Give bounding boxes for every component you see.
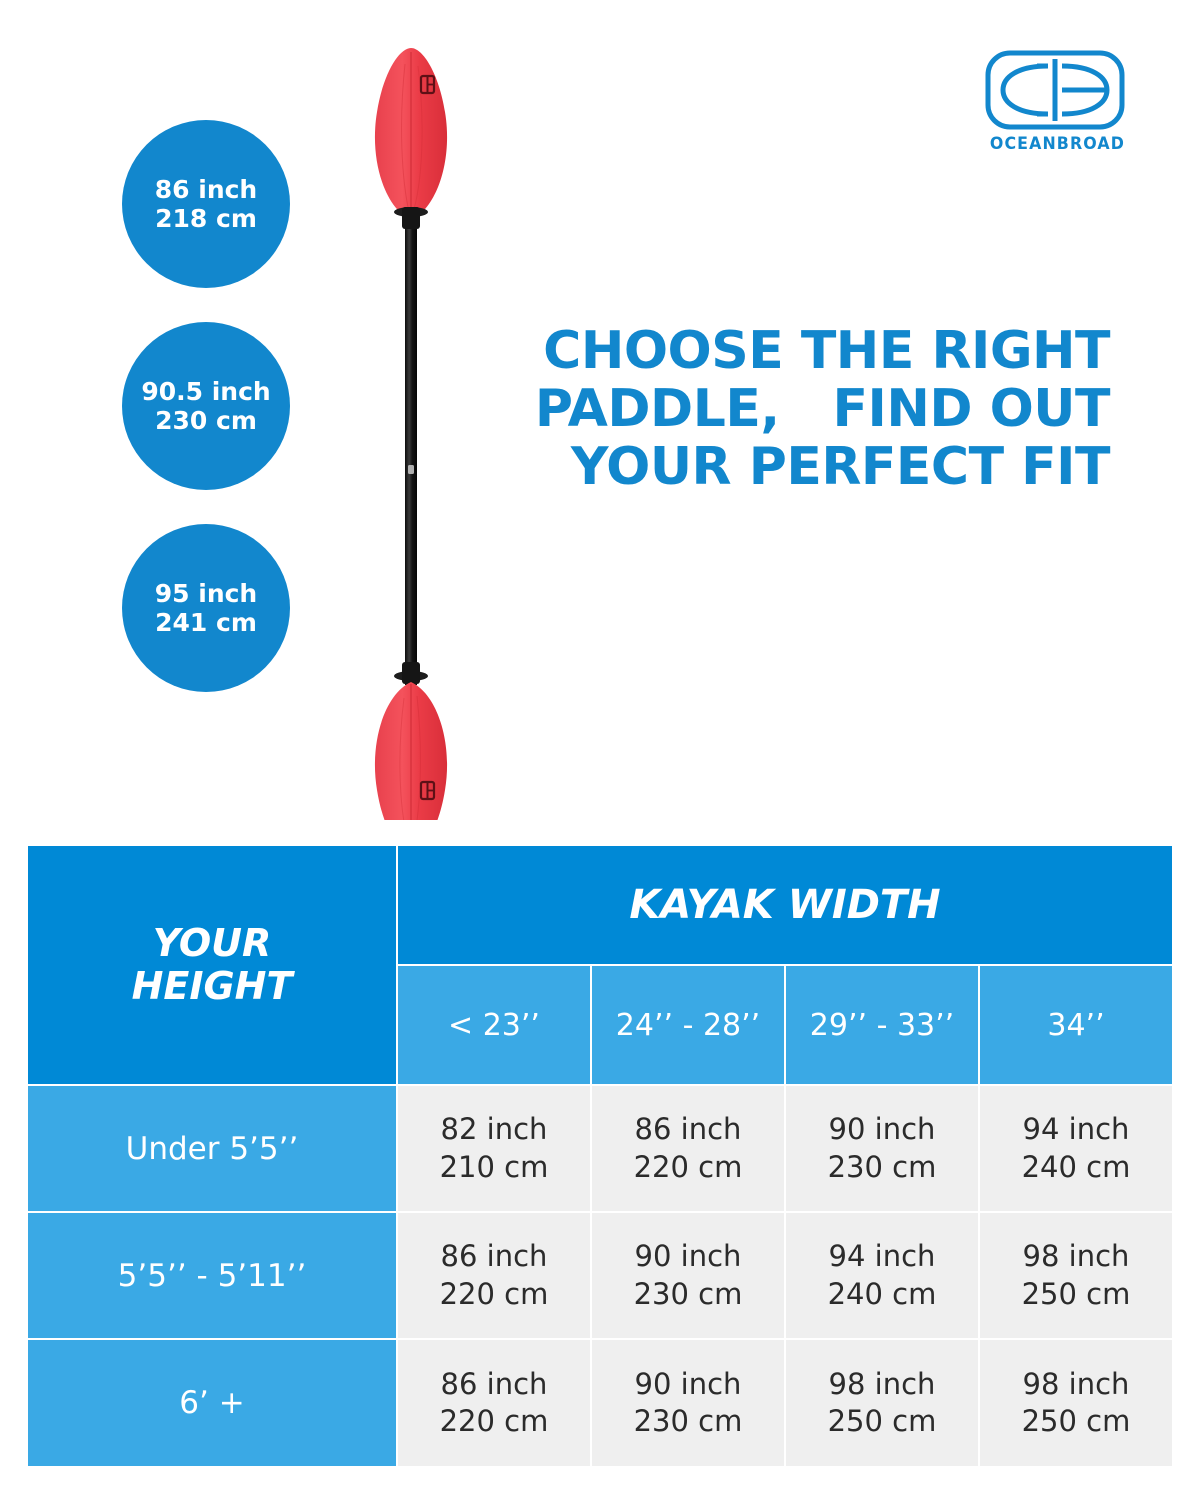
kayak-paddle-illustration — [355, 40, 475, 820]
table-cell-0-1: 86 inch 220 cm — [592, 1086, 786, 1213]
table-row-label-0: Under 5’5’’ — [28, 1086, 398, 1213]
cell-cm: 230 cm — [634, 1276, 743, 1313]
headline-line-3: YOUR PERFECT FIT — [470, 438, 1110, 496]
table-row-label-2: 6’ + — [28, 1340, 398, 1466]
size-circle-86: 86 inch 218 cm — [122, 120, 290, 288]
your-height-line-1: YOUR — [153, 922, 272, 965]
table-cell-2-2: 98 inch 250 cm — [786, 1340, 980, 1466]
cell-inch: 98 inch — [829, 1366, 936, 1403]
column-header-width-2: 29’’ - 33’’ — [786, 966, 980, 1086]
cell-cm: 230 cm — [634, 1403, 743, 1440]
column-header-width-0: < 23’’ — [398, 966, 592, 1086]
page-headline: CHOOSE THE RIGHT PADDLE, FIND OUT YOUR P… — [470, 322, 1110, 497]
size-circle-cm: 241 cm — [155, 608, 257, 638]
table-cell-2-0: 86 inch 220 cm — [398, 1340, 592, 1466]
size-circle-inch: 90.5 inch — [141, 377, 270, 407]
brand-wordmark: OCEANBROAD — [990, 134, 1120, 154]
table-cell-0-2: 90 inch 230 cm — [786, 1086, 980, 1213]
cell-cm: 220 cm — [440, 1403, 549, 1440]
table-cell-0-0: 82 inch 210 cm — [398, 1086, 592, 1213]
size-circle-cm: 218 cm — [155, 204, 257, 234]
table-cell-1-2: 94 inch 240 cm — [786, 1213, 980, 1340]
table-header-your-height: YOUR HEIGHT — [28, 846, 398, 1086]
table-cell-1-0: 86 inch 220 cm — [398, 1213, 592, 1340]
cell-inch: 94 inch — [1023, 1111, 1130, 1148]
table-row-label-1: 5’5’’ - 5’11’’ — [28, 1213, 398, 1340]
size-circle-cm: 230 cm — [155, 406, 257, 436]
column-header-width-1: 24’’ - 28’’ — [592, 966, 786, 1086]
size-circle-inch: 86 inch — [155, 175, 257, 205]
cell-cm: 220 cm — [634, 1149, 743, 1186]
cell-cm: 210 cm — [440, 1149, 549, 1186]
table-cell-2-3: 98 inch 250 cm — [980, 1340, 1172, 1466]
table-cell-0-3: 94 inch 240 cm — [980, 1086, 1172, 1213]
cell-inch: 86 inch — [635, 1111, 742, 1148]
oceanbroad-ob-monogram-icon — [985, 50, 1125, 130]
cell-cm: 240 cm — [828, 1276, 937, 1313]
cell-cm: 250 cm — [1022, 1403, 1131, 1440]
cell-inch: 90 inch — [635, 1238, 742, 1275]
cell-cm: 250 cm — [828, 1403, 937, 1440]
cell-inch: 86 inch — [441, 1366, 548, 1403]
size-circle-90-5: 90.5 inch 230 cm — [122, 322, 290, 490]
cell-inch: 86 inch — [441, 1238, 548, 1275]
table-cell-1-3: 98 inch 250 cm — [980, 1213, 1172, 1340]
cell-cm: 230 cm — [828, 1149, 937, 1186]
paddle-icon — [355, 40, 475, 820]
table-cell-2-1: 90 inch 230 cm — [592, 1340, 786, 1466]
cell-inch: 98 inch — [1023, 1366, 1130, 1403]
brand-logo: OCEANBROAD — [985, 50, 1125, 160]
cell-inch: 98 inch — [1023, 1238, 1130, 1275]
size-circle-95: 95 inch 241 cm — [122, 524, 290, 692]
table-cell-1-1: 90 inch 230 cm — [592, 1213, 786, 1340]
cell-cm: 220 cm — [440, 1276, 549, 1313]
cell-cm: 240 cm — [1022, 1149, 1131, 1186]
paddle-size-table: YOUR HEIGHT KAYAK WIDTH < 23’’ 24’’ - 28… — [28, 846, 1172, 1466]
cell-inch: 90 inch — [635, 1366, 742, 1403]
headline-line-1: CHOOSE THE RIGHT — [470, 322, 1110, 380]
cell-cm: 250 cm — [1022, 1276, 1131, 1313]
your-height-line-2: HEIGHT — [132, 965, 293, 1008]
cell-inch: 82 inch — [441, 1111, 548, 1148]
column-header-width-3: 34’’ — [980, 966, 1172, 1086]
size-circle-inch: 95 inch — [155, 579, 257, 609]
cell-inch: 94 inch — [829, 1238, 936, 1275]
table-header-kayak-width: KAYAK WIDTH — [398, 846, 1172, 966]
cell-inch: 90 inch — [829, 1111, 936, 1148]
headline-line-2: PADDLE, FIND OUT — [470, 380, 1110, 438]
